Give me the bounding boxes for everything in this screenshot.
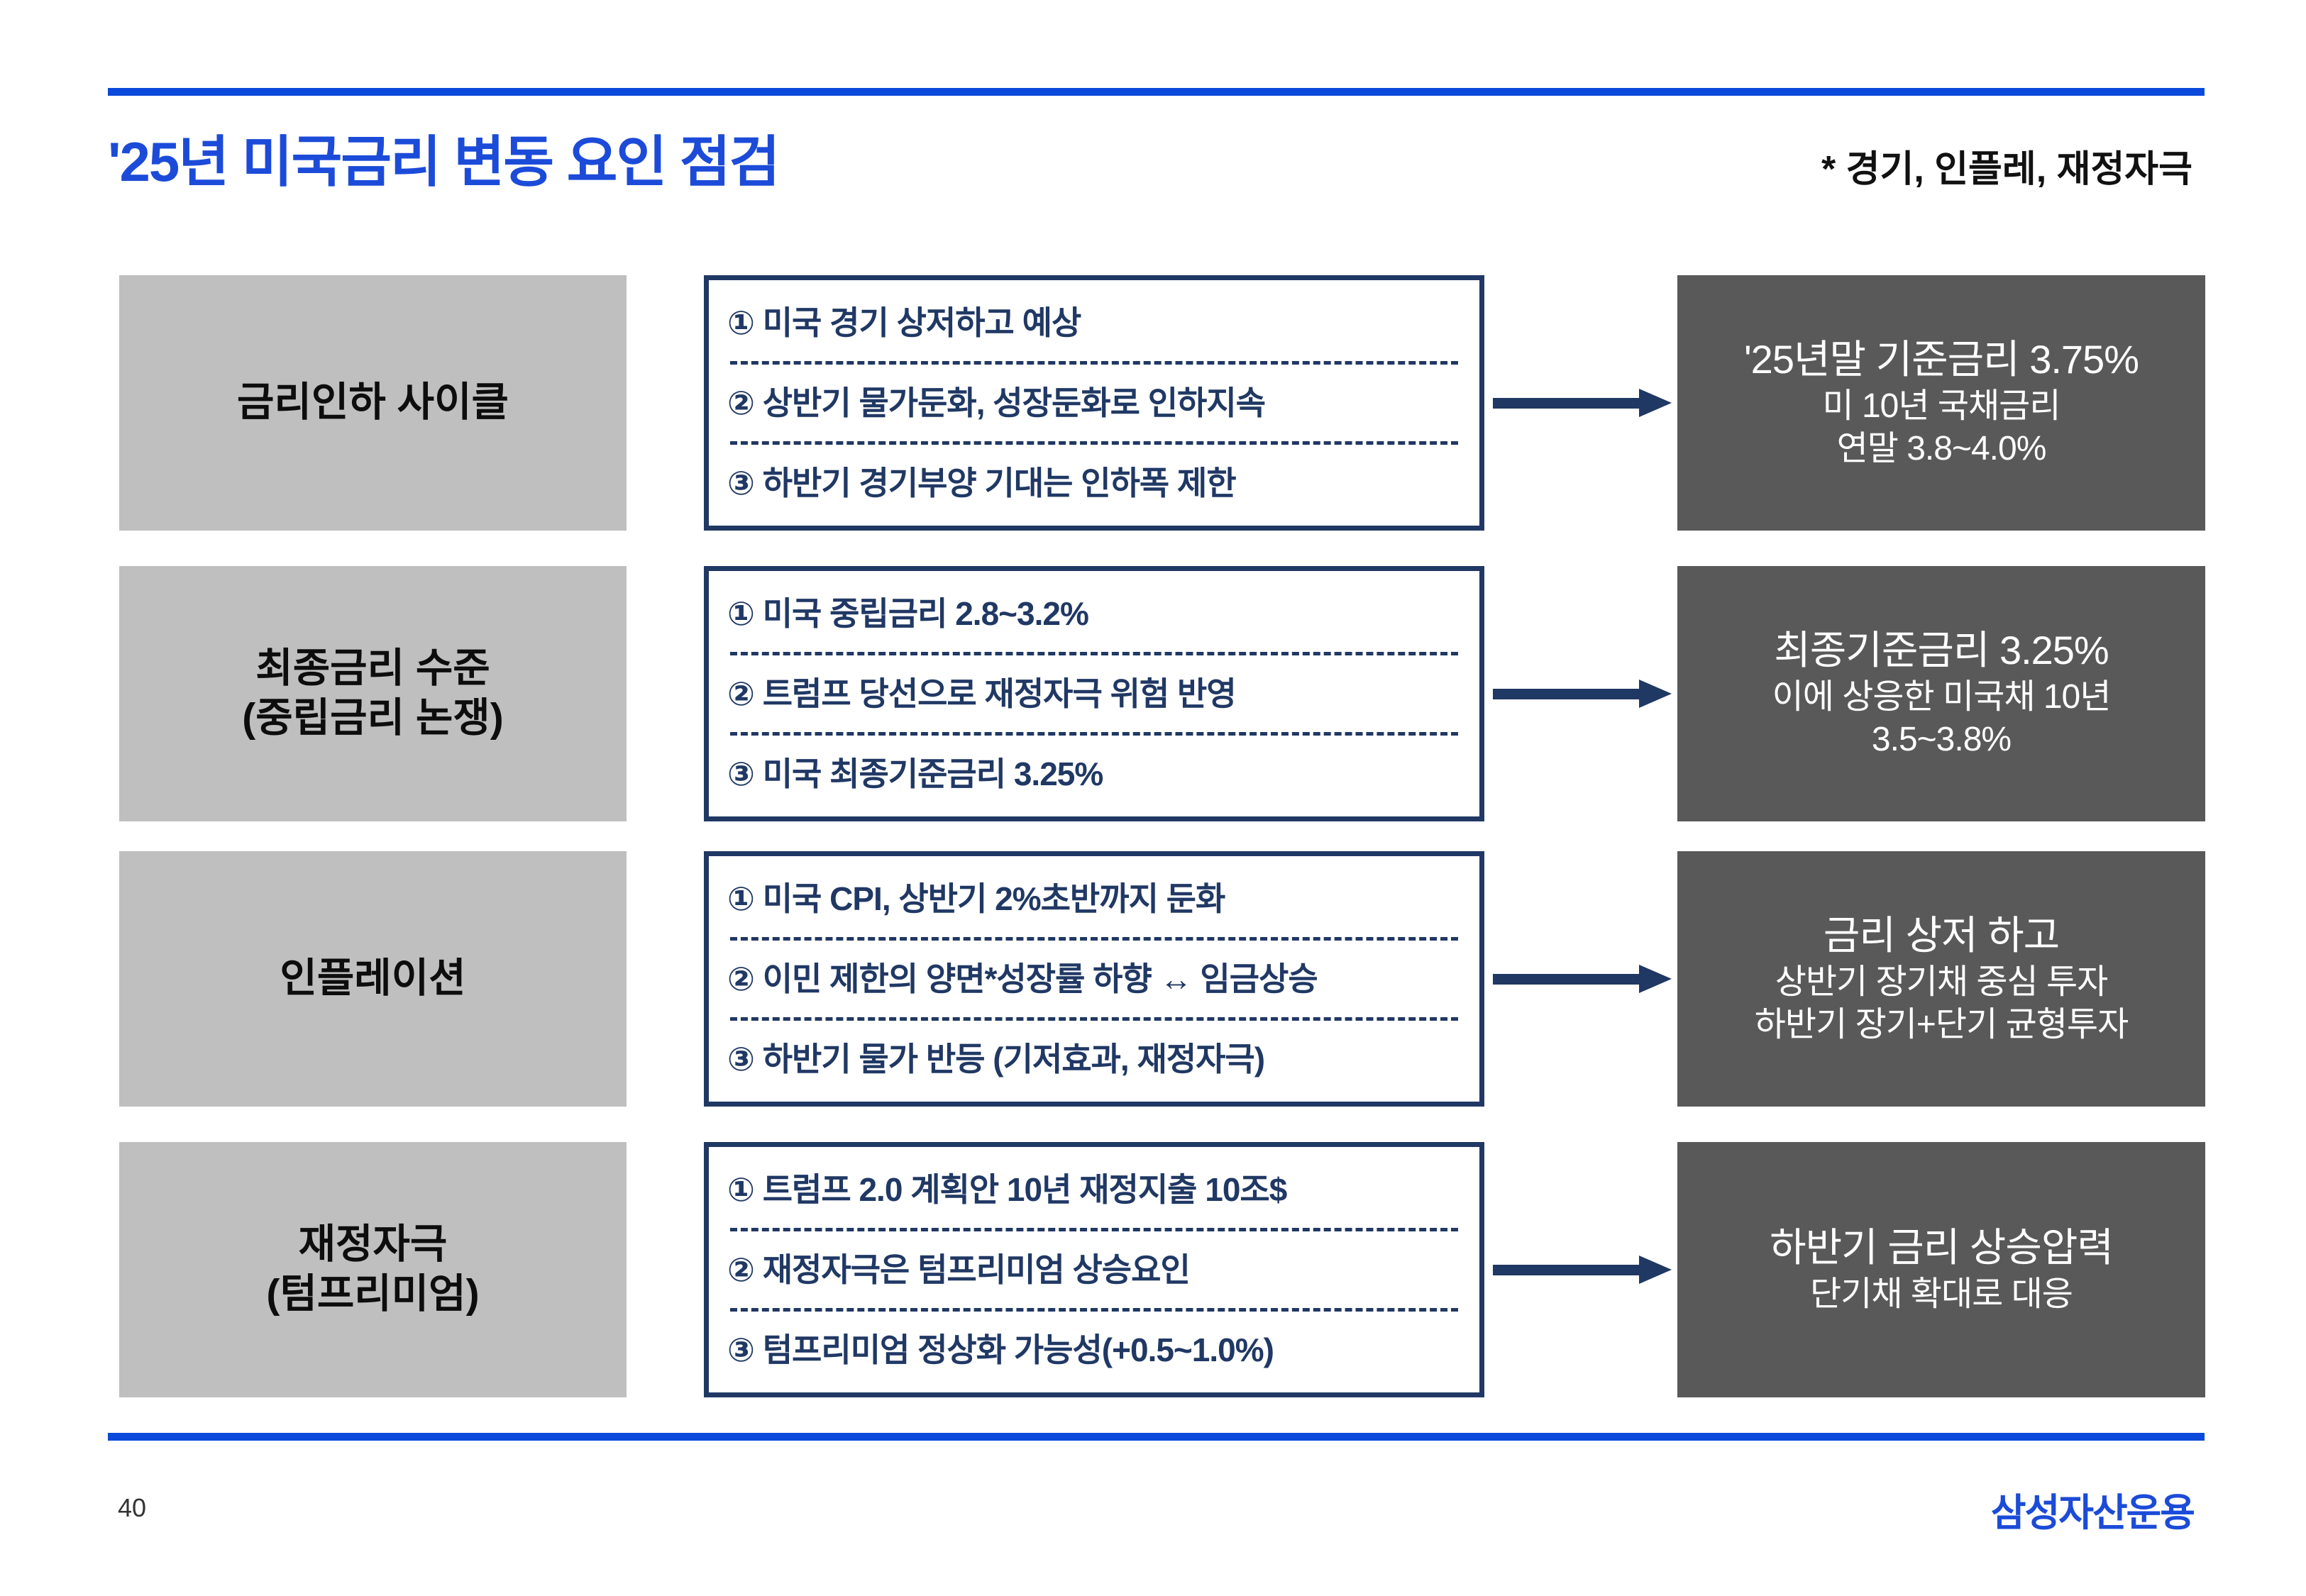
- category-chip-4: 재정자극 (텀프리미엄): [119, 1142, 627, 1397]
- bullet-text: ② 재정자극은 텀프리미엄 상승요인: [727, 1253, 1190, 1287]
- arrow-right-icon: [1493, 1256, 1672, 1284]
- bullet-text: ② 상반기 물가둔화, 성장둔화로 인하지속: [727, 386, 1265, 420]
- outcome-box-4: 하반기 금리 상승압력 단기채 확대로 대응: [1677, 1142, 2205, 1397]
- content-rows: 금리인하 사이클 ① 미국 경기 상저하고 예상 ② 상반기 물가둔화, 성장둔…: [0, 0, 2306, 1596]
- outcome-box-1: '25년말 기준금리 3.75% 미 10년 국채금리 연말 3.8~4.0%: [1677, 275, 2205, 531]
- bullet-item: ③ 하반기 물가 반등 (기저효과, 재정자극): [709, 1021, 1479, 1097]
- outcome-line: 3.5~3.8%: [1872, 719, 2011, 761]
- bullet-item: ③ 미국 최종기준금리 3.25%: [709, 736, 1479, 812]
- brand-logo: 삼성자산운용: [1991, 1481, 2194, 1537]
- bullet-item: ① 미국 중립금리 2.8~3.2%: [709, 575, 1479, 652]
- bullet-item: ③ 하반기 경기부양 기대는 인하폭 제한: [709, 445, 1479, 521]
- arrow-shaft: [1493, 974, 1640, 985]
- arrow-shaft: [1493, 398, 1640, 409]
- arrow-head: [1639, 1256, 1672, 1284]
- bullet-panel-2: ① 미국 중립금리 2.8~3.2% ② 트럼프 당선으로 재정자극 위험 반영…: [704, 566, 1484, 821]
- arrow-shaft: [1493, 1265, 1640, 1275]
- arrow-right-icon: [1493, 965, 1672, 993]
- bullet-text: ③ 하반기 경기부양 기대는 인하폭 제한: [727, 466, 1236, 500]
- arrow-right-icon: [1493, 680, 1672, 708]
- arrow-head: [1639, 389, 1672, 417]
- bullet-item: ② 재정자극은 텀프리미엄 상승요인: [709, 1231, 1479, 1308]
- outcome-line: 하반기 금리 상승압력: [1770, 1223, 2113, 1273]
- outcome-line: 연말 3.8~4.0%: [1837, 428, 2046, 470]
- arrow-head: [1639, 680, 1672, 708]
- bullet-item: ① 트럼프 2.0 계획안 10년 재정지출 10조$: [709, 1151, 1479, 1228]
- bullet-text: ② 이민 제한의 양면: [727, 962, 985, 996]
- bullet-panel-3: ① 미국 CPI, 상반기 2%초반까지 둔화 ② 이민 제한의 양면 *성장률…: [704, 851, 1484, 1107]
- outcome-line: 단기채 확대로 대응: [1810, 1273, 2073, 1316]
- category-label-2: 최종금리 수준 (중립금리 논쟁): [242, 644, 503, 743]
- bullet-item: ③ 텀프리미엄 정상화 가능성(+0.5~1.0%): [709, 1312, 1479, 1388]
- category-chip-1: 금리인하 사이클: [119, 275, 627, 531]
- arrow-head: [1639, 965, 1672, 993]
- category-label-1: 금리인하 사이클: [237, 378, 509, 428]
- bullet-panel-4: ① 트럼프 2.0 계획안 10년 재정지출 10조$ ② 재정자극은 텀프리미…: [704, 1142, 1484, 1397]
- factor-row-4: 재정자극 (텀프리미엄) ① 트럼프 2.0 계획안 10년 재정지출 10조$…: [0, 1142, 2306, 1397]
- category-chip-3: 인플레이션: [119, 851, 627, 1107]
- bullet-text: ③ 미국 최종기준금리 3.25%: [727, 757, 1103, 791]
- bullet-item: ② 트럼프 당선으로 재정자극 위험 반영: [709, 655, 1479, 732]
- bullet-text: ③ 텀프리미엄 정상화 가능성(+0.5~1.0%): [727, 1333, 1274, 1367]
- outcome-line: '25년말 기준금리 3.75%: [1744, 335, 2139, 385]
- bullet-text: ① 트럼프 2.0 계획안 10년 재정지출 10조$: [727, 1173, 1286, 1207]
- outcome-line: 하반기 장기+단기 균형투자: [1755, 1004, 2128, 1046]
- category-chip-2: 최종금리 수준 (중립금리 논쟁): [119, 566, 627, 821]
- bullet-text: ① 미국 경기 상저하고 예상: [727, 306, 1081, 340]
- bullet-item: ② 상반기 물가둔화, 성장둔화로 인하지속: [709, 365, 1479, 441]
- arrow-shaft: [1493, 689, 1640, 699]
- outcome-box-2: 최종기준금리 3.25% 이에 상응한 미국채 10년 3.5~3.8%: [1677, 566, 2205, 821]
- bullet-panel-1: ① 미국 경기 상저하고 예상 ② 상반기 물가둔화, 성장둔화로 인하지속 ③…: [704, 275, 1484, 531]
- factor-row-3: 인플레이션 ① 미국 CPI, 상반기 2%초반까지 둔화 ② 이민 제한의 양…: [0, 851, 2306, 1107]
- page-number: 40: [118, 1493, 146, 1523]
- outcome-box-3: 금리 상저 하고 상반기 장기채 중심 투자 하반기 장기+단기 균형투자: [1677, 851, 2205, 1107]
- bullet-superscript-note: *성장률 하향 ↔ 임금상승: [985, 962, 1318, 996]
- bullet-item: ② 이민 제한의 양면 *성장률 하향 ↔ 임금상승: [709, 941, 1479, 1017]
- factor-row-1: 금리인하 사이클 ① 미국 경기 상저하고 예상 ② 상반기 물가둔화, 성장둔…: [0, 275, 2306, 531]
- category-label-3: 인플레이션: [280, 954, 465, 1004]
- outcome-line: 상반기 장기채 중심 투자: [1775, 961, 2108, 1004]
- bottom-accent-rule: [108, 1433, 2205, 1441]
- outcome-line: 미 10년 국채금리: [1822, 385, 2060, 428]
- outcome-line: 이에 상응한 미국채 10년: [1772, 676, 2111, 719]
- category-label-4: 재정자극 (텀프리미엄): [266, 1220, 479, 1319]
- bullet-item: ① 미국 경기 상저하고 예상: [709, 284, 1479, 361]
- outcome-line: 금리 상저 하고: [1824, 911, 2059, 961]
- bullet-item: ① 미국 CPI, 상반기 2%초반까지 둔화: [709, 860, 1479, 937]
- arrow-right-icon: [1493, 389, 1672, 417]
- bullet-text: ② 트럼프 당선으로 재정자극 위험 반영: [727, 677, 1236, 711]
- factor-row-2: 최종금리 수준 (중립금리 논쟁) ① 미국 중립금리 2.8~3.2% ② 트…: [0, 566, 2306, 821]
- bullet-text: ① 미국 중립금리 2.8~3.2%: [727, 597, 1088, 631]
- bullet-text: ① 미국 CPI, 상반기 2%초반까지 둔화: [727, 882, 1225, 916]
- bullet-text: ③ 하반기 물가 반등 (기저효과, 재정자극): [727, 1042, 1264, 1076]
- outcome-line: 최종기준금리 3.25%: [1774, 626, 2108, 676]
